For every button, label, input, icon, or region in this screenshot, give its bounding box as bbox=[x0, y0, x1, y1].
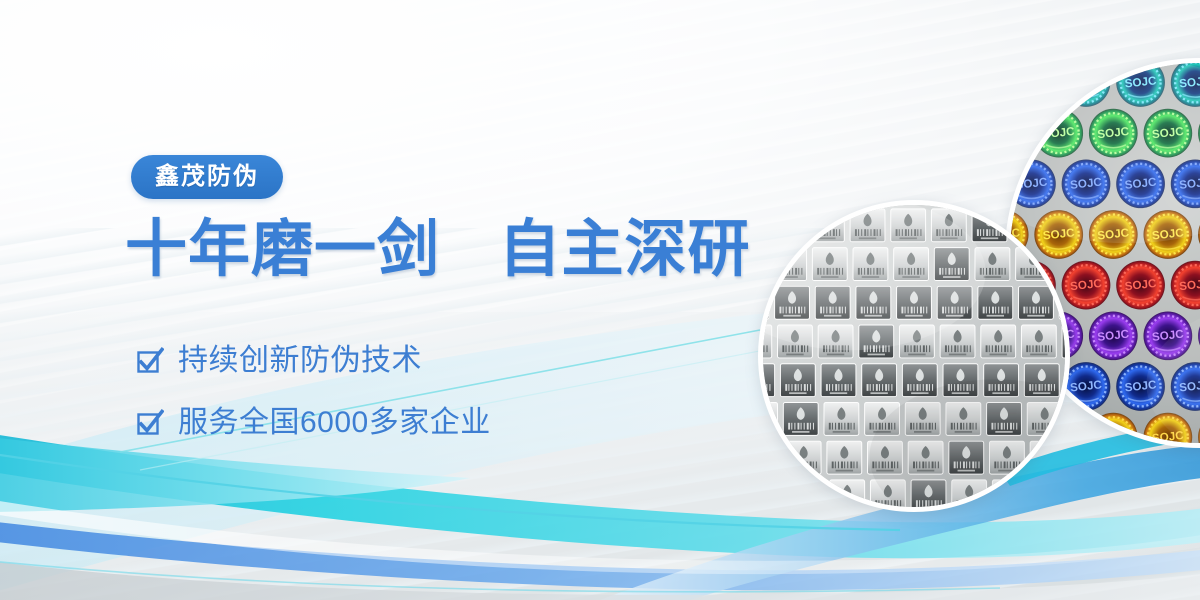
list-item: 服务全国6000多家企业 bbox=[136, 392, 491, 454]
headline-part-1: 十年磨一剑 bbox=[125, 215, 440, 284]
promo-banner: SOJCSOJCSOJCSOJCSOJCSOJCSOJCSOJCSOJCSOJC… bbox=[0, 0, 1200, 600]
list-item-label: 持续创新防伪技术 bbox=[178, 346, 422, 376]
checkbox-checked-icon bbox=[136, 348, 162, 374]
silver-label-sheet-image bbox=[758, 200, 1070, 512]
page-title: 十年磨一剑 自主深研 bbox=[125, 219, 751, 281]
feature-list: 持续创新防伪技术 服务全国6000多家企业 bbox=[136, 330, 491, 454]
brand-badge: 鑫茂防伪 bbox=[131, 155, 283, 199]
list-item-label: 服务全国6000多家企业 bbox=[178, 408, 491, 438]
svg-text:SOJC: SOJC bbox=[1015, 74, 1049, 90]
svg-text:SOJC: SOJC bbox=[1097, 429, 1131, 443]
checkbox-checked-icon bbox=[136, 410, 162, 436]
svg-text:SOJC: SOJC bbox=[1069, 74, 1103, 90]
headline-part-2: 自主深研 bbox=[498, 215, 750, 284]
banner-content: 鑫茂防伪 十年磨一剑 自主深研 持续创新防伪技术 bbox=[0, 0, 760, 600]
brand-badge-label: 鑫茂防伪 bbox=[155, 165, 259, 189]
list-item: 持续创新防伪技术 bbox=[136, 330, 491, 392]
svg-text:SOJC: SOJC bbox=[1179, 277, 1200, 293]
svg-text:SOJC: SOJC bbox=[1010, 125, 1021, 141]
